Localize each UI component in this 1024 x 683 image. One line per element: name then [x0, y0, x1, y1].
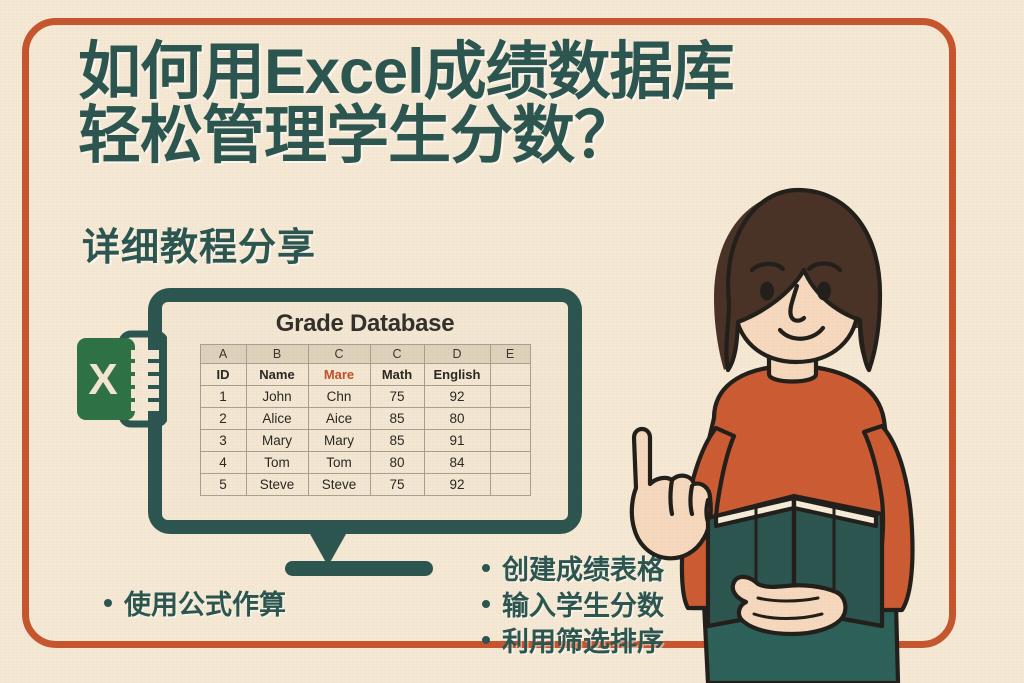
bullet-dot-icon [104, 599, 112, 607]
cell-r3-c3[interactable]: Mary [308, 430, 370, 452]
excel-icon: X [75, 330, 167, 428]
list-item: 使用公式作算 [104, 588, 286, 622]
cell-r4-c2[interactable]: Tom [246, 452, 308, 474]
table-row: 3 Mary Mary 85 91 [200, 430, 530, 452]
bullet-dot-icon [482, 600, 490, 608]
cell-r1-c4[interactable]: 75 [370, 386, 424, 408]
cell-field-math[interactable]: Math [370, 364, 424, 386]
cell-r1-c1[interactable]: 1 [200, 386, 246, 408]
cell-r3-c1[interactable]: 3 [200, 430, 246, 452]
cell-r5-c1[interactable]: 5 [200, 474, 246, 496]
monitor-bezel: Grade Database A B C C D E [148, 288, 582, 534]
cell-r2-c4[interactable]: 85 [370, 408, 424, 430]
cell-r2-c3[interactable]: Aice [308, 408, 370, 430]
cell-r5-c4[interactable]: 75 [370, 474, 424, 496]
spreadsheet-title: Grade Database [162, 310, 568, 338]
cell-r5-c2[interactable]: Steve [246, 474, 308, 496]
cell-r3-c6[interactable] [490, 430, 530, 452]
cell-r2-c5[interactable]: 80 [424, 408, 490, 430]
cell-r3-c2[interactable]: Mary [246, 430, 308, 452]
poster-canvas: 如何用Excel成绩数据库 轻松管理学生分数？ 详细教程分享 Grade Dat… [0, 0, 1024, 683]
cell-field-english[interactable]: English [424, 364, 490, 386]
list-item-label: 使用公式作算 [124, 590, 286, 620]
column-header-a[interactable]: A [200, 345, 246, 364]
hand-crease-2 [691, 486, 693, 514]
cell-r1-c3[interactable]: Chn [308, 386, 370, 408]
hand-crease-1 [671, 480, 673, 514]
column-header-f[interactable]: E [490, 345, 530, 364]
cell-r1-c5[interactable]: 92 [424, 386, 490, 408]
table-row: 4 Tom Tom 80 84 [200, 452, 530, 474]
cell-r5-c6[interactable] [490, 474, 530, 496]
cell-r3-c5[interactable]: 91 [424, 430, 490, 452]
table-row: 2 Alice Aice 85 80 [200, 408, 530, 430]
eye-right [817, 282, 831, 301]
cell-r4-c6[interactable] [490, 452, 530, 474]
cell-r4-c4[interactable]: 80 [370, 452, 424, 474]
cell-r5-c5[interactable]: 92 [424, 474, 490, 496]
cell-field-id[interactable]: ID [200, 364, 246, 386]
monitor-screen: Grade Database A B C C D E [162, 302, 568, 520]
table-row: 5 Steve Steve 75 92 [200, 474, 530, 496]
cell-r2-c6[interactable] [490, 408, 530, 430]
column-header-row: A B C C D E [200, 345, 530, 364]
cell-r1-c6[interactable] [490, 386, 530, 408]
page-title: 如何用Excel成绩数据库 轻松管理学生分数？ [78, 40, 778, 168]
column-header-b[interactable]: B [246, 345, 308, 364]
table-row: ID Name Mare Math English [200, 364, 530, 386]
cell-r2-c1[interactable]: 2 [200, 408, 246, 430]
cell-r1-c2[interactable]: John [246, 386, 308, 408]
bullet-dot-icon [482, 564, 490, 572]
cell-r4-c1[interactable]: 4 [200, 452, 246, 474]
cell-field-empty[interactable] [490, 364, 530, 386]
svg-text:X: X [88, 355, 117, 404]
column-header-d[interactable]: C [370, 345, 424, 364]
cell-r2-c2[interactable]: Alice [246, 408, 308, 430]
title-line-2: 轻松管理学生分数？ [78, 104, 778, 168]
cell-field-name[interactable]: Name [246, 364, 308, 386]
eye-left [760, 282, 774, 301]
cell-r5-c3[interactable]: Steve [308, 474, 370, 496]
cell-r3-c4[interactable]: 85 [370, 430, 424, 452]
subtitle: 详细教程分享 [82, 216, 316, 271]
bullet-dot-icon [482, 636, 490, 644]
table-row: 1 John Chn 75 92 [200, 386, 530, 408]
bullet-list-left: 使用公式作算 [104, 588, 286, 622]
title-line-1: 如何用Excel成绩数据库 [78, 40, 778, 104]
cell-r4-c5[interactable]: 84 [424, 452, 490, 474]
grade-table: A B C C D E ID Name Mare Math English [200, 344, 531, 496]
cell-r4-c3[interactable]: Tom [308, 452, 370, 474]
illustration-woman-with-book [596, 178, 998, 683]
column-header-c[interactable]: C [308, 345, 370, 364]
monitor-stand-base [285, 561, 433, 576]
cell-field-mare[interactable]: Mare [308, 364, 370, 386]
column-header-e[interactable]: D [424, 345, 490, 364]
